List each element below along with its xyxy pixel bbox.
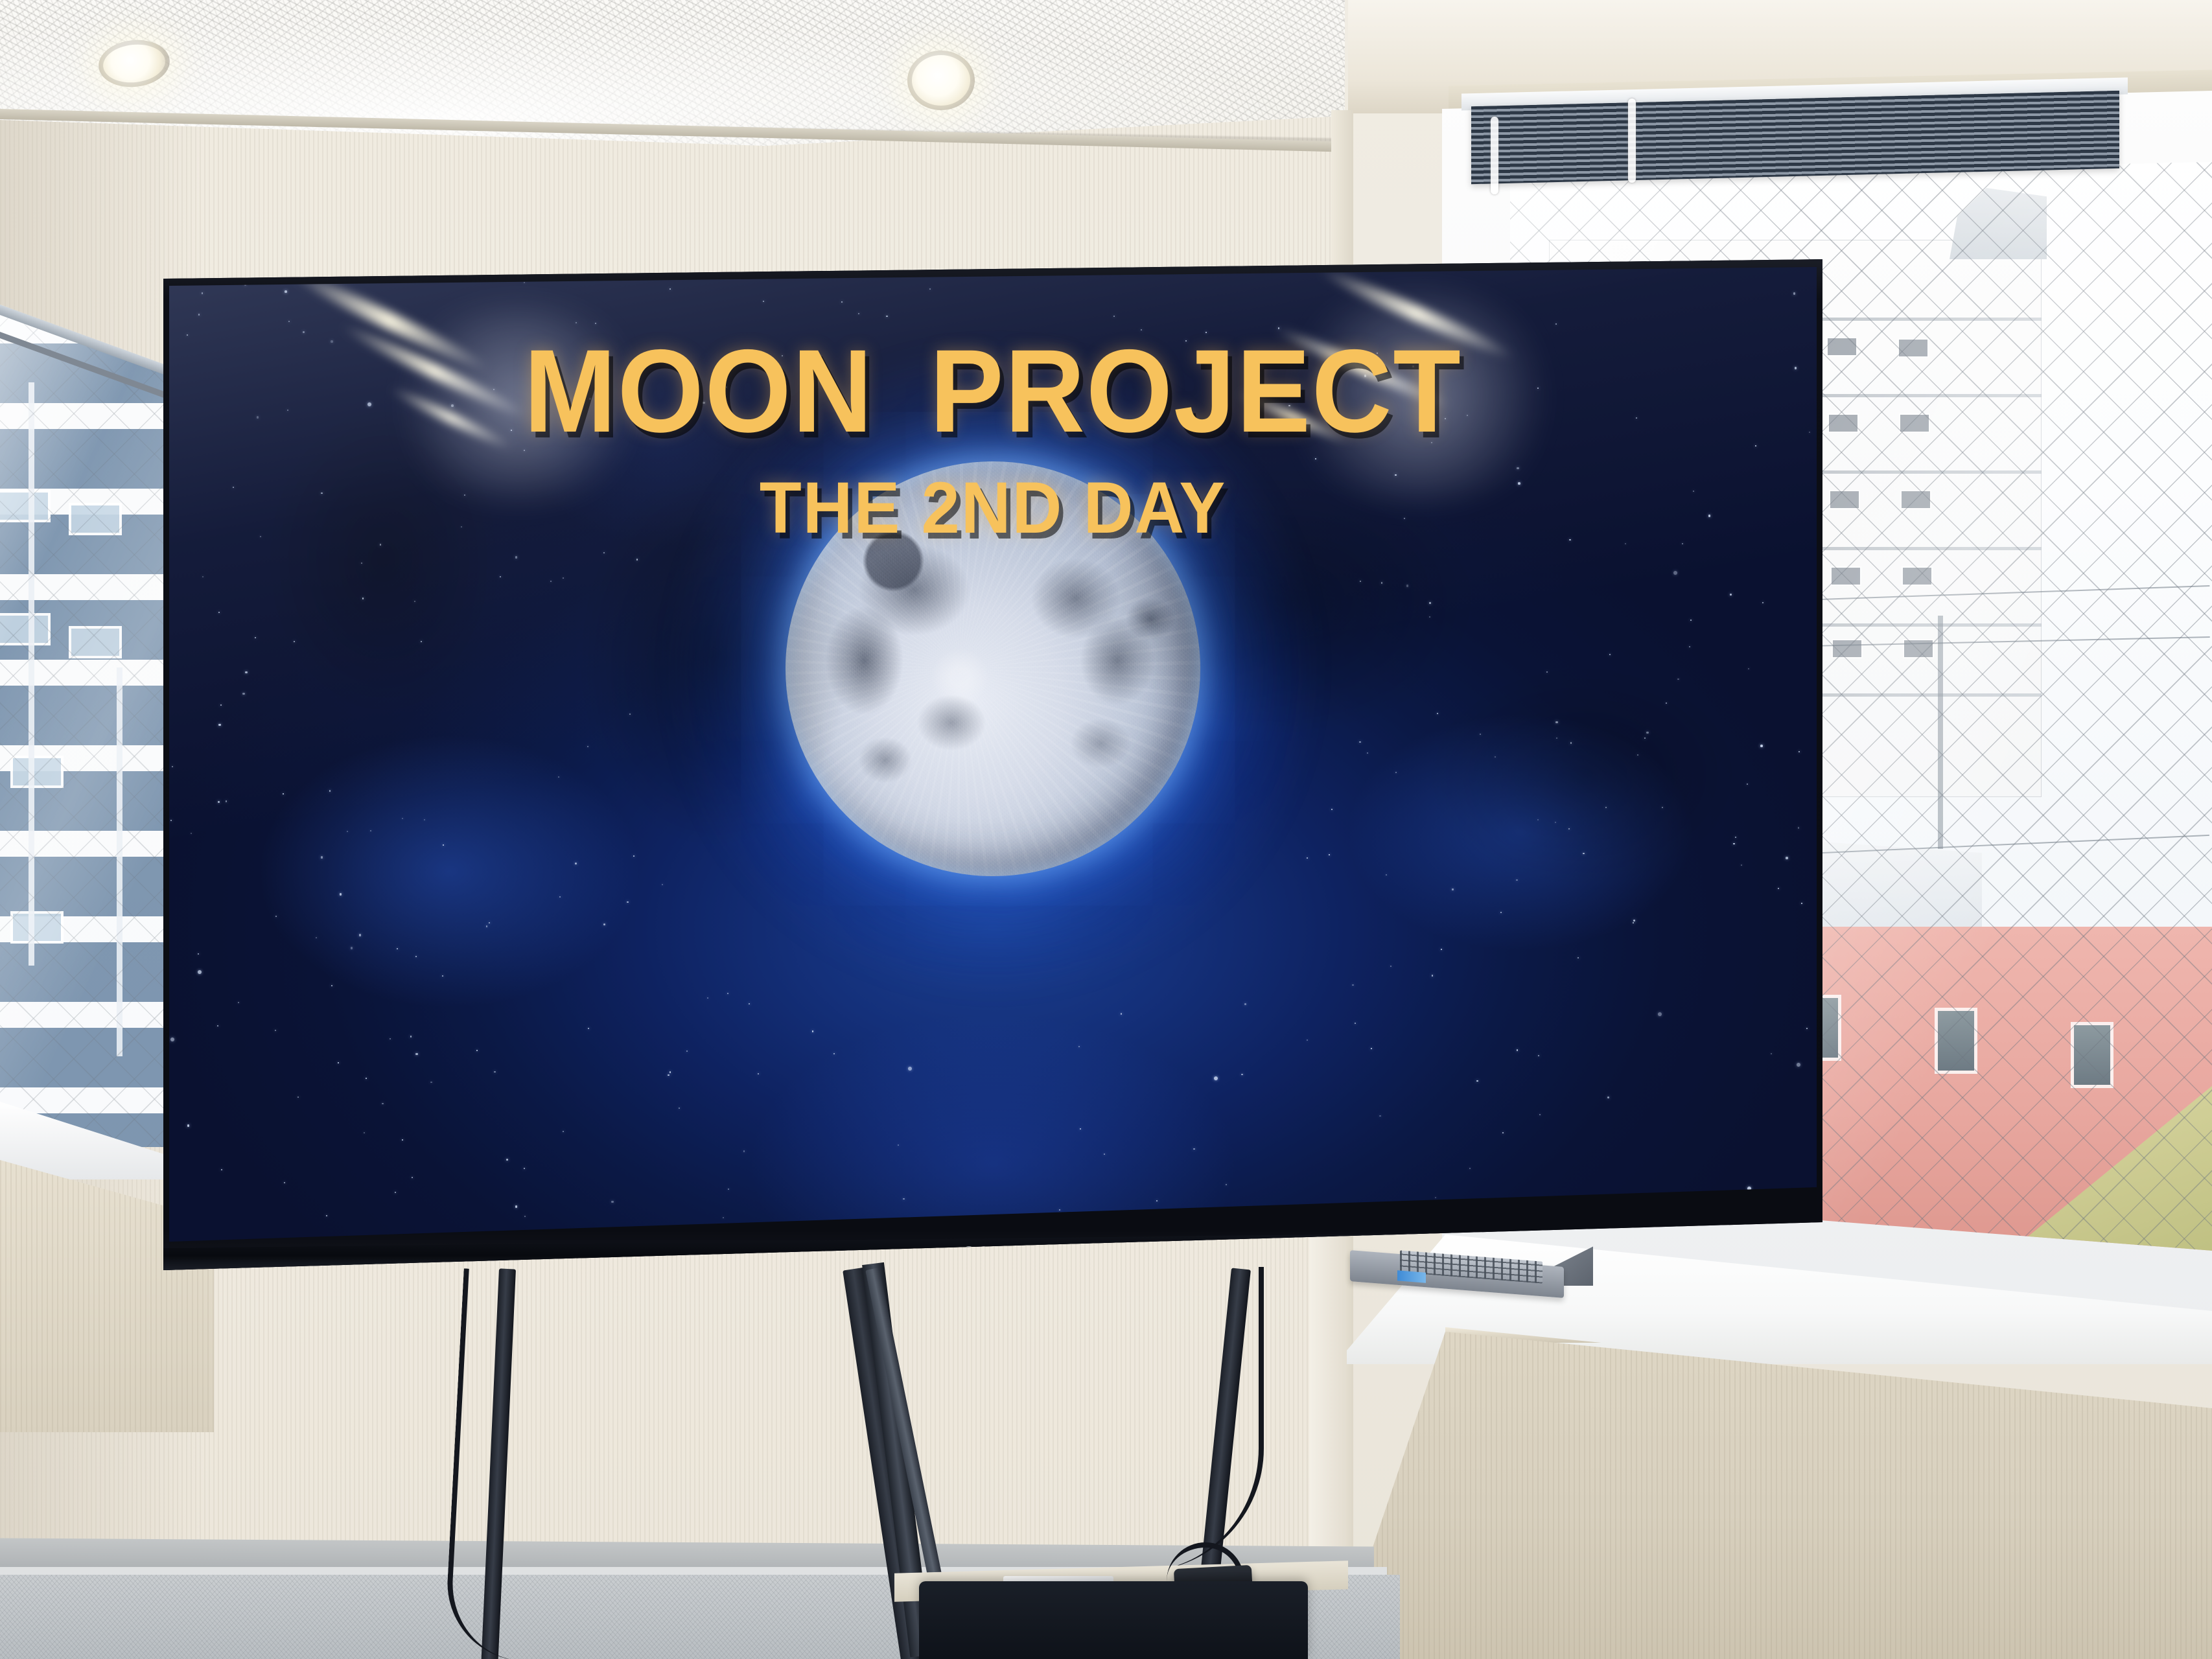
blind-cord[interactable] bbox=[1491, 117, 1498, 194]
dark-equipment-case bbox=[919, 1581, 1308, 1659]
left-window-glass bbox=[0, 305, 188, 1147]
slide-title-word2: PROJECT bbox=[930, 325, 1462, 457]
slide-title-block: MOONPROJECT THE 2ND DAY bbox=[169, 332, 1817, 544]
downlight-right-icon bbox=[907, 51, 975, 110]
ceiling-wall-junction bbox=[0, 0, 1458, 194]
room-photo-scene: MOONPROJECT THE 2ND DAY SONY bbox=[0, 0, 2212, 1659]
left-window-glare bbox=[0, 305, 188, 1147]
blind-cord[interactable] bbox=[1628, 99, 1636, 183]
tv-screen[interactable]: MOONPROJECT THE 2ND DAY bbox=[169, 267, 1817, 1242]
laptop-sticker bbox=[1397, 1270, 1426, 1282]
slide-subtitle: THE 2ND DAY bbox=[211, 472, 1776, 544]
slide-title-line1: MOONPROJECT bbox=[218, 332, 1767, 450]
venetian-blinds[interactable] bbox=[1471, 91, 2119, 184]
television[interactable]: MOONPROJECT THE 2ND DAY SONY bbox=[163, 259, 1822, 1270]
slide-title-word1: MOON bbox=[524, 325, 874, 457]
